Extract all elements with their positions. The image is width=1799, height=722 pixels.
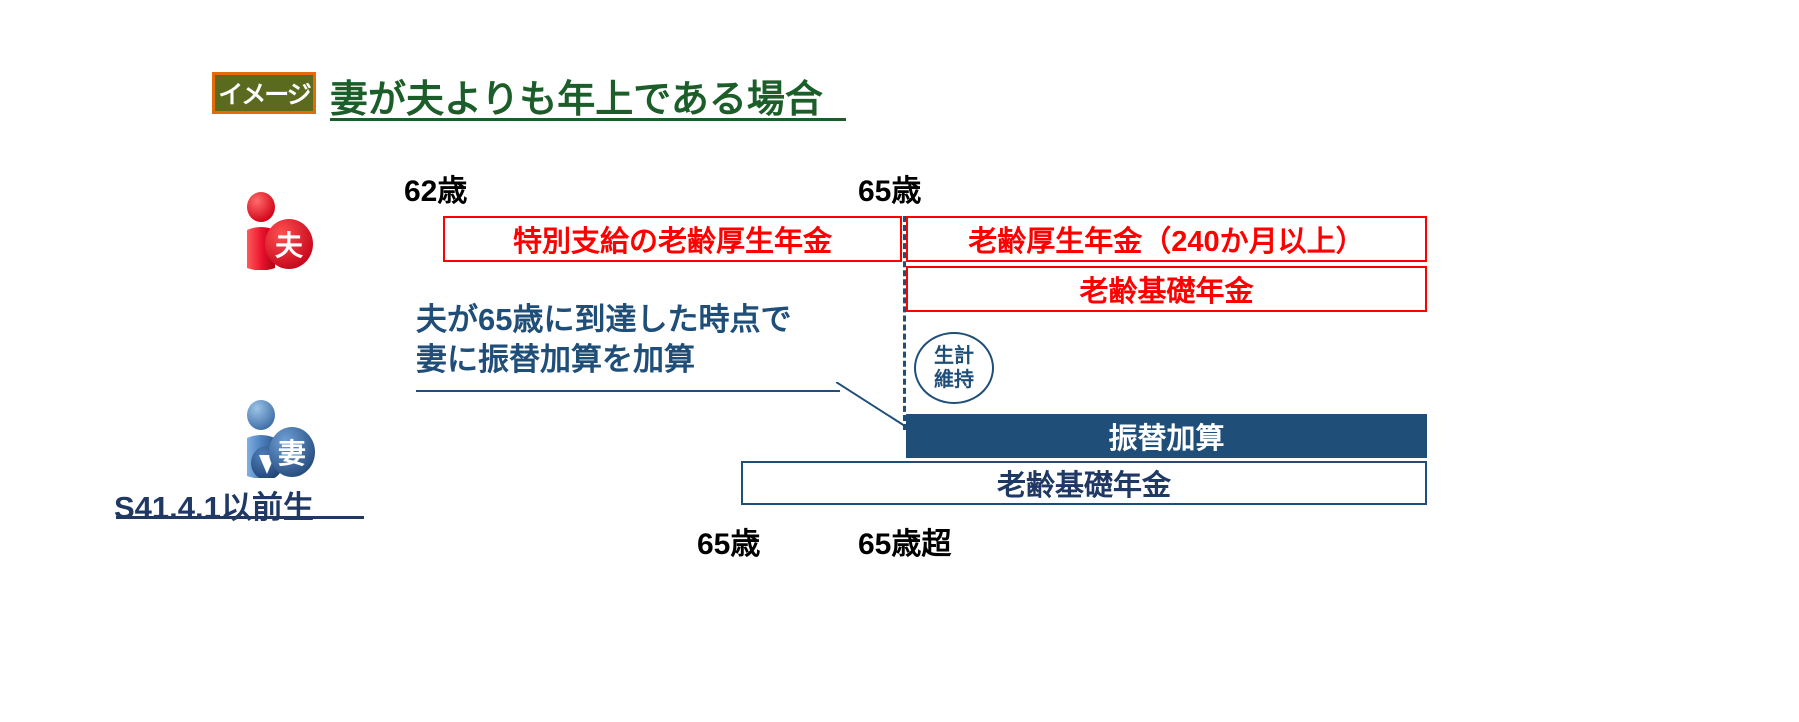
svg-text:夫: 夫: [275, 230, 304, 261]
husband-bar-kiso-nenkin: 老齢基礎年金: [906, 266, 1427, 312]
husband-age-65-label: 65歳: [858, 166, 921, 210]
husband-person-icon: 夫: [237, 192, 327, 270]
title-underline: [330, 118, 846, 121]
wife-person-icon: 妻: [237, 400, 327, 478]
husband-bar-kousei-nenkin: 老齢厚生年金（240か月以上）: [906, 216, 1427, 262]
image-badge-label: イメージ: [218, 75, 310, 111]
callout-line-2: 妻に振替加算を加算: [416, 340, 791, 380]
seikei-iji-bubble: 生計 維持: [914, 332, 994, 404]
husband-bar-special-kousei: 特別支給の老齢厚生年金: [443, 216, 902, 262]
husband-age-62-label: 62歳: [404, 166, 467, 210]
slide-canvas: イメージ 妻が夫よりも年上である場合 夫: [0, 0, 1799, 722]
page-title: 妻が夫よりも年上である場合: [330, 68, 823, 123]
bubble-line-1: 生計: [934, 344, 974, 368]
wife-bar-kiso-nenkin: 老齢基礎年金: [741, 461, 1427, 505]
wife-age-over-65-label: 65歳超: [858, 519, 951, 563]
wife-bar-furikae-kasan: 振替加算: [906, 414, 1427, 458]
svg-text:妻: 妻: [278, 438, 306, 469]
image-badge: イメージ: [212, 72, 316, 114]
callout-leader-line: [836, 382, 916, 434]
furikae-callout-text: 夫が65歳に到達した時点で 妻に振替加算を加算: [416, 300, 791, 380]
callout-line-1: 夫が65歳に到達した時点で: [416, 300, 791, 340]
wife-age-65-label: 65歳: [697, 519, 760, 563]
bubble-line-2: 維持: [934, 368, 974, 392]
wife-birth-underline: [116, 516, 364, 519]
wife-birth-note: S41.4.1以前生: [114, 482, 314, 527]
callout-underline: [416, 390, 840, 392]
